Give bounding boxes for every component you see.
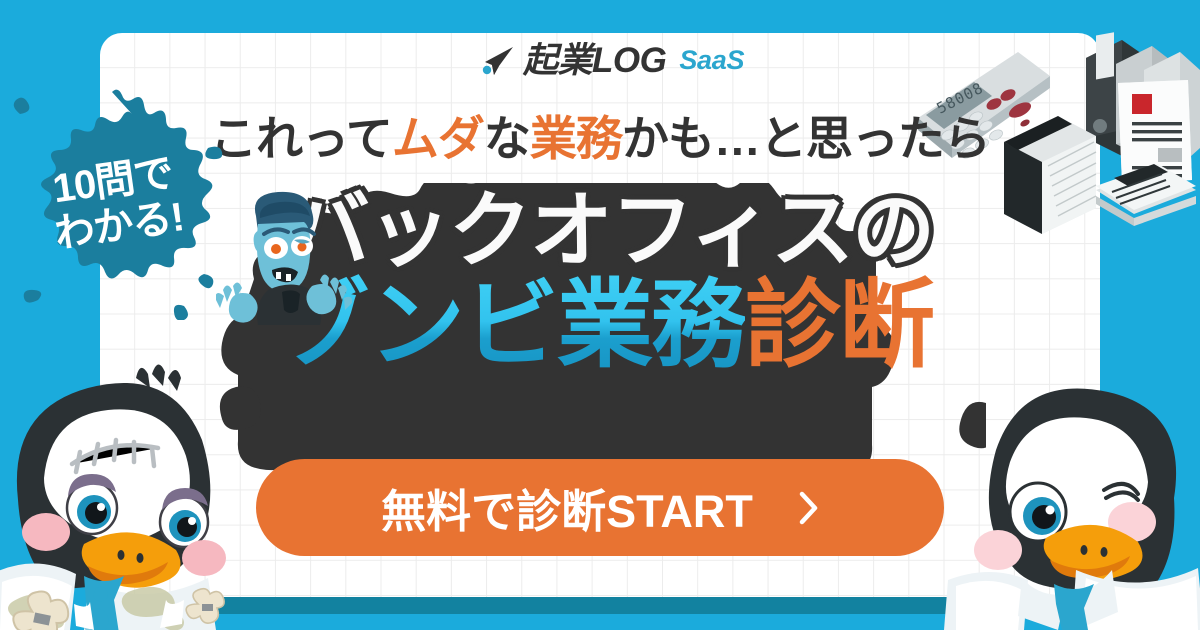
chevron-right-icon [799, 491, 819, 525]
headline-part-1: これって [210, 112, 392, 165]
logo-text: 起業LOG [523, 43, 666, 78]
title-line-2-orange: 診断 [745, 272, 933, 379]
headline-part-3: かも…と思ったら [622, 112, 990, 165]
logo-suffix: SaaS [679, 47, 744, 74]
promo-banner: 58008 [0, 0, 1200, 630]
zombie-character-illustration [216, 190, 361, 325]
office-worker-penguin-illustration [926, 378, 1200, 630]
headline-highlight-2: 業務 [530, 112, 622, 165]
start-diagnosis-button[interactable]: 無料で診断START [256, 459, 944, 556]
zombie-penguin-illustration [0, 360, 288, 630]
headline-highlight-1: ムダ [392, 112, 484, 165]
paper-plane-icon [480, 45, 514, 77]
brand-logo[interactable]: 起業LOG SaaS [480, 43, 744, 78]
headline-part-2: な [484, 112, 530, 165]
cta-label: 無料で診断START [381, 475, 753, 540]
question-count-badge: 10問で わかる! [8, 88, 224, 320]
